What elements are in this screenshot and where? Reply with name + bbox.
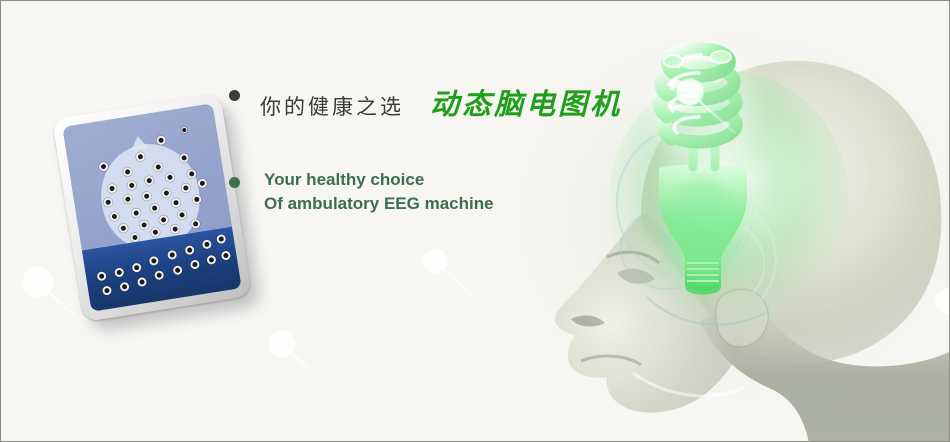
connector-port bbox=[114, 267, 124, 277]
english-line-1: Your healthy choice bbox=[264, 168, 494, 192]
connector-port bbox=[154, 270, 164, 280]
magnifier-icon bbox=[23, 267, 53, 297]
connector-port bbox=[96, 271, 106, 281]
magnifier-handle bbox=[441, 267, 481, 303]
electrode-port bbox=[122, 194, 132, 204]
headline-block: 你的健康之选 动态脑电图机 Your healthy choice Of amb… bbox=[229, 81, 649, 216]
electrode-port bbox=[191, 219, 201, 229]
electrode-port bbox=[156, 135, 166, 145]
bullet-green-icon bbox=[229, 177, 240, 188]
chinese-headline: 你的健康之选 动态脑电图机 bbox=[260, 81, 622, 123]
device-face bbox=[62, 103, 241, 311]
connector-port bbox=[167, 250, 177, 260]
bulb-inner-glow bbox=[651, 49, 755, 165]
connector-port bbox=[149, 256, 159, 266]
connector-port bbox=[184, 245, 194, 255]
connector-port bbox=[172, 265, 182, 275]
electrode-port bbox=[181, 126, 188, 133]
bullet-dark-icon bbox=[229, 90, 240, 101]
connector-port bbox=[119, 282, 129, 292]
magnifier-handle bbox=[289, 350, 329, 386]
connector-port bbox=[216, 234, 226, 244]
magnifier-lens bbox=[423, 249, 447, 273]
electrode-port bbox=[192, 194, 202, 204]
magnifier-lens bbox=[23, 267, 53, 297]
headline-row-chinese: 你的健康之选 动态脑电图机 bbox=[229, 81, 649, 123]
connector-port bbox=[190, 260, 200, 270]
eeg-amplifier-panel bbox=[52, 93, 252, 322]
magnifier-icon bbox=[269, 331, 295, 357]
electrode-port bbox=[126, 180, 136, 190]
head-diagram-nose bbox=[129, 135, 149, 151]
device-bezel bbox=[52, 93, 252, 322]
chinese-subtitle: 你的健康之选 bbox=[260, 91, 404, 121]
promotional-banner: 你的健康之选 动态脑电图机 Your healthy choice Of amb… bbox=[0, 0, 950, 442]
chinese-title: 动态脑电图机 bbox=[430, 81, 622, 123]
connector-port bbox=[101, 286, 111, 296]
electrode-port bbox=[197, 178, 207, 188]
connector-port bbox=[220, 250, 230, 260]
english-line-2: Of ambulatory EEG machine bbox=[264, 192, 494, 216]
headline-row-english: Your healthy choice Of ambulatory EEG ma… bbox=[229, 168, 649, 216]
connector-port bbox=[202, 239, 212, 249]
bulb-base-glow bbox=[667, 179, 739, 283]
connector-strip bbox=[82, 227, 242, 312]
connector-port bbox=[206, 255, 216, 265]
magnifier-lens bbox=[269, 331, 295, 357]
electrode-port bbox=[179, 153, 189, 163]
connector-port bbox=[132, 263, 142, 273]
english-headline: Your healthy choice Of ambulatory EEG ma… bbox=[264, 168, 494, 216]
magnifier-icon bbox=[423, 249, 447, 273]
connector-port bbox=[137, 277, 147, 287]
